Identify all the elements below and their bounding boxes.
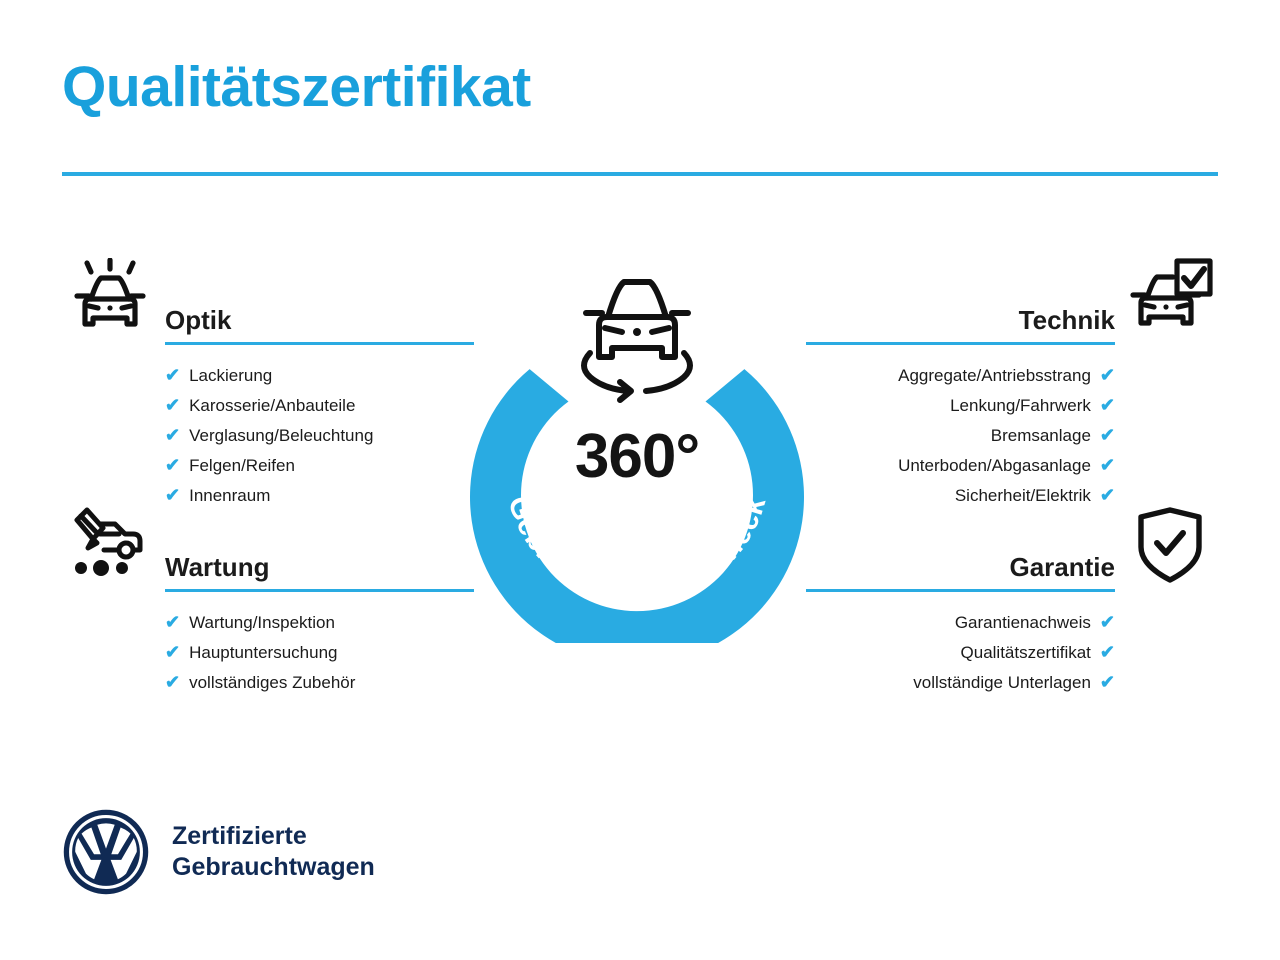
section-header: Garantie bbox=[798, 502, 1218, 592]
list-item-label: Unterboden/Abgasanlage bbox=[898, 451, 1091, 481]
checklist-technik: Aggregate/Antriebsstrang ✔ Lenkung/Fahrw… bbox=[798, 361, 1218, 511]
list-item-label: Qualitätszertifikat bbox=[961, 638, 1091, 668]
list-item: ✔ Felgen/Reifen bbox=[62, 451, 482, 481]
section-header: Technik bbox=[798, 255, 1218, 345]
section-title: Optik bbox=[165, 306, 474, 342]
check-icon: ✔ bbox=[165, 613, 180, 631]
list-item-label: vollständige Unterlagen bbox=[913, 668, 1091, 698]
check-icon: ✔ bbox=[165, 643, 180, 661]
list-item: ✔ Lackierung bbox=[62, 361, 482, 391]
list-item-label: Verglasung/Beleuchtung bbox=[189, 421, 373, 451]
section-title: Technik bbox=[806, 306, 1115, 342]
check-icon: ✔ bbox=[1100, 643, 1115, 661]
footer-line-1: Zertifizierte bbox=[172, 821, 375, 852]
list-item: Unterboden/Abgasanlage ✔ bbox=[798, 451, 1218, 481]
section-title-wrap: Garantie bbox=[806, 553, 1115, 592]
section-garantie: Garantie Garantienachweis ✔ Qualitätszer… bbox=[798, 502, 1218, 698]
list-item-label: Hauptuntersuchung bbox=[189, 638, 337, 668]
car-shine-icon bbox=[62, 255, 158, 341]
footer-brand: Zertifizierte Gebrauchtwagen bbox=[62, 808, 375, 896]
footer-line-2: Gebrauchtwagen bbox=[172, 852, 375, 883]
section-divider bbox=[806, 589, 1115, 592]
section-title: Garantie bbox=[806, 553, 1115, 589]
list-item-label: Karosserie/Anbauteile bbox=[189, 391, 355, 421]
checklist-garantie: Garantienachweis ✔ Qualitätszertifikat ✔… bbox=[798, 608, 1218, 698]
check-icon: ✔ bbox=[1100, 396, 1115, 414]
section-technik: Technik Aggregate/Antriebsstrang ✔ Lenku… bbox=[798, 255, 1218, 511]
check-icon: ✔ bbox=[165, 396, 180, 414]
list-item-label: Bremsanlage bbox=[991, 421, 1091, 451]
section-title-wrap: Technik bbox=[806, 306, 1115, 345]
list-item: Qualitätszertifikat ✔ bbox=[798, 638, 1218, 668]
vw-roundel-logo bbox=[62, 808, 150, 896]
list-item-label: Lenkung/Fahrwerk bbox=[950, 391, 1091, 421]
check-icon: ✔ bbox=[1100, 613, 1115, 631]
list-item-label: vollständiges Zubehör bbox=[189, 668, 355, 698]
footer-text: Zertifizierte Gebrauchtwagen bbox=[172, 821, 375, 884]
check-icon: ✔ bbox=[165, 366, 180, 384]
list-item: ✔ Verglasung/Beleuchtung bbox=[62, 421, 482, 451]
list-item-label: Wartung/Inspektion bbox=[189, 608, 335, 638]
section-divider bbox=[165, 589, 474, 592]
list-item: vollständige Unterlagen ✔ bbox=[798, 668, 1218, 698]
section-wartung: Wartung ✔ Wartung/Inspektion ✔ Hauptunte… bbox=[62, 502, 482, 698]
section-optik: Optik ✔ Lackierung ✔ Karosserie/Anbautei… bbox=[62, 255, 482, 511]
section-divider bbox=[165, 342, 474, 345]
check-icon: ✔ bbox=[1100, 673, 1115, 691]
checklist-wartung: ✔ Wartung/Inspektion ✔ Hauptuntersuchung… bbox=[62, 608, 482, 698]
badge-360-check: Gebrauchtwagen-Check 360° bbox=[455, 243, 819, 643]
check-icon: ✔ bbox=[1100, 456, 1115, 474]
list-item: Bremsanlage ✔ bbox=[798, 421, 1218, 451]
checklist-optik: ✔ Lackierung ✔ Karosserie/Anbauteile ✔ V… bbox=[62, 361, 482, 511]
check-icon: ✔ bbox=[165, 456, 180, 474]
list-item-label: Lackierung bbox=[189, 361, 272, 391]
car-rotation-icon bbox=[584, 282, 690, 400]
check-icon: ✔ bbox=[165, 426, 180, 444]
list-item: ✔ Karosserie/Anbauteile bbox=[62, 391, 482, 421]
section-header: Optik bbox=[62, 255, 482, 345]
service-book-pencil-icon bbox=[62, 502, 158, 588]
section-title: Wartung bbox=[165, 553, 474, 589]
list-item-label: Garantienachweis bbox=[955, 608, 1091, 638]
shield-check-icon bbox=[1122, 502, 1218, 588]
page-title: Qualitätszertifikat bbox=[62, 56, 531, 119]
car-checkbox-icon bbox=[1122, 255, 1218, 341]
list-item: Garantienachweis ✔ bbox=[798, 608, 1218, 638]
section-header: Wartung bbox=[62, 502, 482, 592]
list-item: ✔ vollständiges Zubehör bbox=[62, 668, 482, 698]
check-icon: ✔ bbox=[1100, 426, 1115, 444]
list-item: Lenkung/Fahrwerk ✔ bbox=[798, 391, 1218, 421]
list-item: ✔ Hauptuntersuchung bbox=[62, 638, 482, 668]
title-divider bbox=[62, 172, 1218, 176]
section-title-wrap: Wartung bbox=[165, 553, 474, 592]
check-icon: ✔ bbox=[1100, 366, 1115, 384]
section-divider bbox=[806, 342, 1115, 345]
list-item: Aggregate/Antriebsstrang ✔ bbox=[798, 361, 1218, 391]
list-item-label: Felgen/Reifen bbox=[189, 451, 295, 481]
list-item: ✔ Wartung/Inspektion bbox=[62, 608, 482, 638]
check-icon: ✔ bbox=[165, 673, 180, 691]
section-title-wrap: Optik bbox=[165, 306, 474, 345]
list-item-label: Aggregate/Antriebsstrang bbox=[898, 361, 1091, 391]
